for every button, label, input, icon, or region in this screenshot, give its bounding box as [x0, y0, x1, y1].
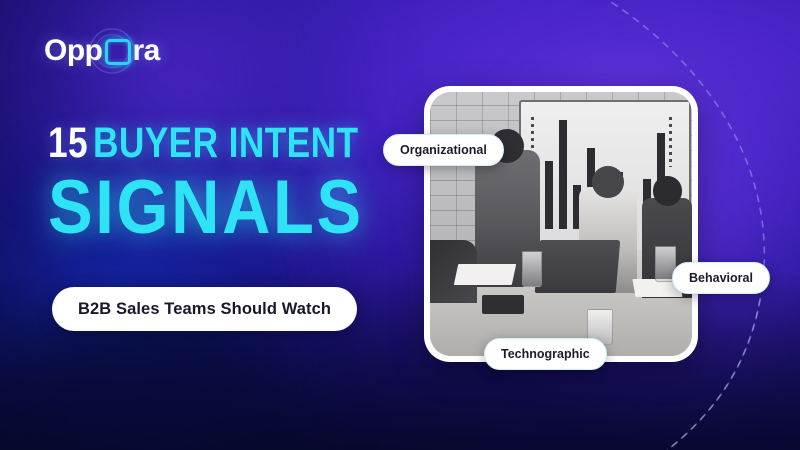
- headline-line-1: 15BUYER INTENT: [48, 122, 319, 165]
- photo-glass-left: [522, 251, 542, 287]
- headline-block: 15BUYER INTENT SIGNALS: [48, 122, 378, 245]
- photo-screen-bar: [545, 161, 553, 229]
- photo-image: [430, 92, 692, 356]
- headline-line-1-rest: BUYER INTENT: [93, 119, 358, 167]
- photo-person-center-head: [592, 166, 623, 198]
- photo-screen-bar: [559, 120, 567, 229]
- promo-banner: Opp ra 15BUYER INTENT SIGNALS B2B Sales …: [0, 0, 800, 450]
- brand-name-part2: ra: [133, 36, 160, 66]
- headline-line-2: SIGNALS: [48, 171, 338, 245]
- headline-number: 15: [48, 119, 88, 167]
- badge-technographic[interactable]: Technographic: [484, 338, 607, 370]
- brand-logo-wrap: Opp ra: [44, 36, 160, 66]
- photo-card: [424, 86, 698, 362]
- brand-o-mark-icon: [105, 39, 131, 65]
- badge-behavioral[interactable]: Behavioral: [672, 262, 770, 294]
- photo-paper-left: [454, 264, 516, 285]
- brand-logo-text: Opp ra: [44, 36, 160, 66]
- subtitle-pill: B2B Sales Teams Should Watch: [52, 287, 357, 331]
- badge-organizational[interactable]: Organizational: [383, 134, 504, 166]
- photo-person-right-head: [653, 176, 682, 205]
- photo-calculator: [482, 295, 524, 313]
- photo-laptop: [535, 240, 621, 293]
- brand-name-part1: Opp: [44, 36, 103, 66]
- brand-logo[interactable]: Opp ra: [44, 28, 160, 74]
